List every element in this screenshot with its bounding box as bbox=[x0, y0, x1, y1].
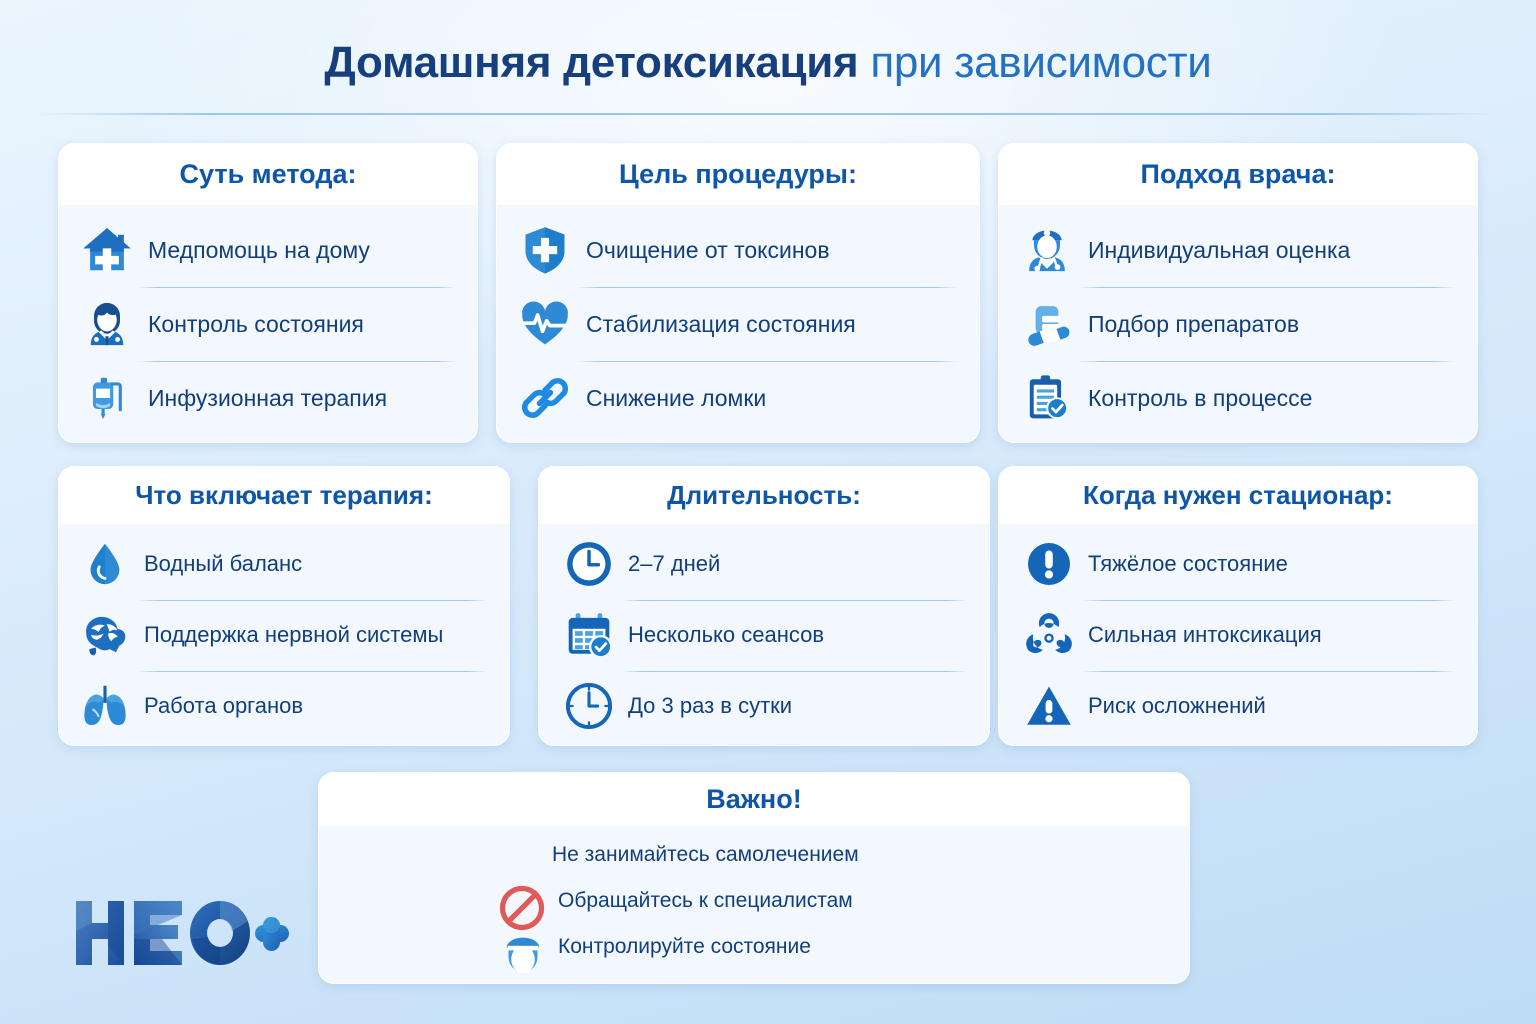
list-item-label: Инфузионная терапия bbox=[148, 385, 387, 412]
card-header: Когда нужен стационар: bbox=[998, 466, 1478, 524]
list-item-label: Подбор препаратов bbox=[1088, 311, 1299, 338]
doctor-bust-icon bbox=[80, 297, 134, 351]
card-header: Что включает терапия: bbox=[58, 466, 510, 524]
warning-triangle-icon bbox=[1024, 681, 1074, 731]
house-cross-icon bbox=[80, 223, 134, 277]
list-item: Контроль в процессе bbox=[1020, 361, 1460, 435]
list-item: Тяжёлое состояние bbox=[1024, 529, 1460, 600]
list-item-label: 2–7 дней bbox=[628, 551, 720, 577]
list-item-label: Поддержка нервной системы bbox=[144, 622, 443, 648]
card-body: Индивидуальная оценка П bbox=[998, 205, 1478, 443]
page-title: Домашняя детоксикация при зависимости bbox=[0, 38, 1536, 88]
card-header: Цель процедуры: bbox=[496, 143, 980, 205]
important-list: Не занимайтесь самолечением Обращайтесь … bbox=[318, 832, 1190, 970]
card-header: Важно! bbox=[318, 772, 1190, 826]
title-bold-part: Домашняя детоксикация bbox=[324, 38, 858, 87]
list-item: Водный баланс bbox=[80, 529, 492, 600]
iv-drip-icon bbox=[80, 371, 134, 425]
list-item-label: Не занимайтесь самолечением bbox=[552, 843, 859, 867]
list-item-label: Очищение от токсинов bbox=[586, 237, 830, 264]
list-item-label: Тяжёлое состояние bbox=[1088, 551, 1288, 577]
list-item: Очищение от токсинов bbox=[518, 213, 962, 287]
list-item-label: Водный баланс bbox=[144, 551, 302, 577]
list-item: Сильная интоксикация bbox=[1024, 600, 1460, 671]
card-cel-procedury: Цель процедуры: Очищение от токсинов Ста… bbox=[496, 143, 980, 443]
list-item: Риск осложнений bbox=[1024, 671, 1460, 742]
shield-cross-icon bbox=[518, 223, 572, 277]
card-dlitelnost: Длительность: 2–7 дней bbox=[538, 466, 990, 746]
list-item: Подбор препаратов bbox=[1020, 287, 1460, 361]
biohazard-icon bbox=[1024, 610, 1074, 660]
list-item-label: До 3 раз в сутки bbox=[628, 693, 792, 719]
card-podhod-vracha: Подход врача: Индивидуальная оценка bbox=[998, 143, 1478, 443]
list-item: Не занимайтесь самолечением bbox=[496, 832, 1190, 878]
list-item: Инфузионная терапия bbox=[80, 361, 460, 435]
list-item: Обращайтесь к специалистам bbox=[496, 878, 1190, 924]
list-item-label: Индивидуальная оценка bbox=[1088, 237, 1350, 264]
clock-solid-icon bbox=[564, 539, 614, 589]
brain-icon bbox=[80, 610, 130, 660]
logo-neo-plus bbox=[70, 895, 290, 971]
card-body: Тяжёлое состояние Сильная интоксикация bbox=[998, 524, 1478, 746]
list-item: Стабилизация состояния bbox=[518, 287, 962, 361]
card-vazhno: Важно! Не за bbox=[318, 772, 1190, 984]
title-divider bbox=[38, 113, 1498, 115]
list-item-label: Сильная интоксикация bbox=[1088, 622, 1322, 648]
list-item: Поддержка нервной системы bbox=[80, 600, 492, 671]
list-item: Снижение ломки bbox=[518, 361, 962, 435]
list-item: Работа органов bbox=[80, 671, 492, 742]
list-item-label: Контроль в процессе bbox=[1088, 385, 1312, 412]
list-item-label: Снижение ломки bbox=[586, 385, 766, 412]
calendar-check-icon bbox=[564, 610, 614, 660]
list-item-label: Стабилизация состояния bbox=[586, 311, 856, 338]
surgeon-icon bbox=[1020, 223, 1074, 277]
card-body: Не занимайтесь самолечением Обращайтесь … bbox=[318, 826, 1190, 984]
card-body: 2–7 дней Неско bbox=[538, 524, 990, 746]
list-item: Индивидуальная оценка bbox=[1020, 213, 1460, 287]
card-sut-metoda: Суть метода: Медпомощь на дому bbox=[58, 143, 478, 443]
exclamation-circle-icon bbox=[1024, 539, 1074, 589]
pills-bottle-icon bbox=[1020, 297, 1074, 351]
list-item-label: Несколько сеансов bbox=[628, 622, 824, 648]
card-body: Медпомощь на дому Контроль состояния bbox=[58, 205, 478, 443]
list-item-label: Обращайтесь к специалистам bbox=[558, 889, 853, 913]
list-item-label: Медпомощь на дому bbox=[148, 237, 370, 264]
water-drop-icon bbox=[80, 539, 130, 589]
list-item: Контроль состояния bbox=[80, 287, 460, 361]
card-header: Суть метода: bbox=[58, 143, 478, 205]
logo-icon bbox=[70, 895, 290, 971]
card-header: Подход врача: bbox=[998, 143, 1478, 205]
list-item: Контролируйте состояние bbox=[496, 924, 1190, 970]
clock-outline-icon bbox=[564, 681, 614, 731]
card-body: Очищение от токсинов Стабилизация состоя… bbox=[496, 205, 980, 443]
list-item: Медпомощь на дому bbox=[80, 213, 460, 287]
chain-link-icon bbox=[518, 371, 572, 425]
title-light-part: при зависимости bbox=[858, 38, 1211, 87]
list-item-label: Работа органов bbox=[144, 693, 303, 719]
card-chto-vklyuchaet-terapiya: Что включает терапия: Водный баланс bbox=[58, 466, 510, 746]
list-item-label: Риск осложнений bbox=[1088, 693, 1266, 719]
list-item-label: Контролируйте состояние bbox=[558, 935, 811, 959]
list-item-label: Контроль состояния bbox=[148, 311, 364, 338]
list-item: 2–7 дней bbox=[564, 529, 972, 600]
lungs-icon bbox=[80, 681, 130, 731]
list-item: Несколько сеансов bbox=[564, 600, 972, 671]
card-body: Водный баланс Поддержка нервной системы bbox=[58, 524, 510, 746]
list-item: До 3 раз в сутки bbox=[564, 671, 972, 742]
clipboard-check-icon bbox=[1020, 371, 1074, 425]
heart-pulse-icon bbox=[518, 297, 572, 351]
card-kogda-nuzhen-stacionar: Когда нужен стационар: Тяжёлое состояние bbox=[998, 466, 1478, 746]
card-header: Длительность: bbox=[538, 466, 990, 524]
